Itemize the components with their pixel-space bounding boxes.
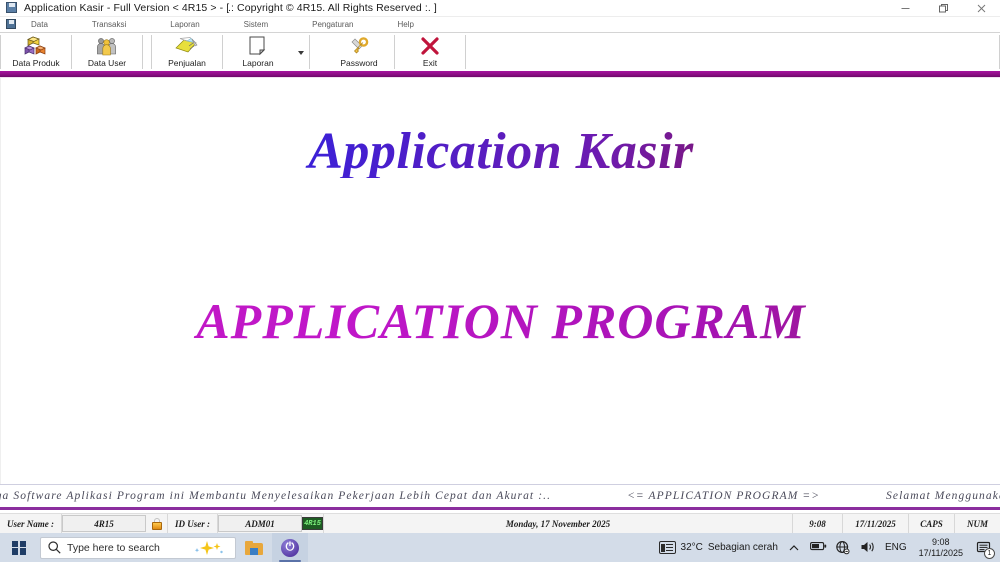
clock-date: 17/11/2025 [919,548,963,559]
toolbar-button-data-user[interactable]: Data User [72,33,142,72]
window-controls [886,0,1000,17]
windows-taskbar: Type here to search ⏻ [0,533,1000,562]
status-level-value: 4R15 [302,517,323,530]
weather-widget[interactable]: 32°C Sebagian cerah [654,533,783,562]
status-time: 9:08 [792,514,842,534]
chevron-down-icon [298,51,304,55]
weather-news-icon [659,541,676,554]
open-envelope-icon [172,35,202,57]
weather-condition: Sebagian cerah [708,542,778,553]
toolbar-button-data-produk[interactable]: Data Produk [1,33,71,72]
toolbar-label: Data User [88,58,126,68]
tray-language[interactable]: ENG [880,533,912,562]
menu-item-sistem[interactable]: Sistem [238,20,274,29]
red-x-icon [415,35,445,57]
colored-cubes-icon [21,35,51,57]
status-id-label: ID User : [168,514,218,534]
toolbar: Data Produk Data User [0,32,1000,71]
marquee-text: noga Software Aplikasi Program ini Memba… [0,490,1000,502]
status-user-value: 4R15 [62,515,146,532]
toolbar-button-laporan[interactable]: Laporan [223,33,293,72]
marquee-text-center: <= APPLICATION PROGRAM => [627,490,820,502]
toolbar-button-exit[interactable]: Exit [395,33,465,72]
green-led-icon: 4R15 [302,514,324,534]
window-copyright: .: Copyright © 4R15. All Rights Reserved… [228,2,437,14]
notification-center-button[interactable]: 1 [970,533,996,562]
padlock-icon [146,514,168,534]
toolbar-separator [309,35,310,69]
toolbar-label: Data Produk [12,58,59,68]
menu-item-laporan[interactable]: Laporan [164,20,205,29]
status-user-label: User Name : [0,514,62,534]
status-bar: User Name : 4R15 ID User : ADM01 4R15 Mo… [0,513,1000,533]
toolbar-separator [142,35,143,69]
taskbar-file-explorer[interactable] [236,533,272,562]
toolbar-filler [466,33,999,71]
chevron-up-icon [788,542,800,554]
toolbar-label: Penjualan [168,58,206,68]
purple-circle-icon: ⏻ [281,539,299,557]
toolbar-label: Exit [423,58,437,68]
search-input[interactable]: Type here to search [40,537,236,559]
toolbar-label: Laporan [242,58,273,68]
page-title: Application Kasir [1,126,1000,178]
tray-expand-button[interactable] [783,533,805,562]
windows-logo-icon[interactable] [0,533,38,562]
folder-icon [245,540,263,555]
page-subtitle: APPLICATION PROGRAM [1,296,1000,346]
title-bar: Application Kasir - Full Version < 4R15 … [0,0,1000,17]
menu-item-help[interactable]: Help [391,20,419,29]
key-icon [344,35,374,57]
tray-network[interactable] [830,533,855,562]
speaker-icon [860,540,875,555]
tray-volume[interactable] [855,533,880,562]
marquee-banner: noga Software Aplikasi Program ini Memba… [0,484,1000,510]
marquee-text-right: Selamat Menggunakan A [886,490,1000,502]
floppy-disk-icon [4,1,20,15]
laporan-dropdown-button[interactable] [293,33,309,72]
toolbar-label: Password [340,58,377,68]
language-indicator: ENG [885,542,907,553]
tray-battery[interactable] [805,533,830,562]
minimize-icon[interactable] [886,0,924,17]
toolbar-button-penjualan[interactable]: Penjualan [152,33,222,72]
battery-icon [810,540,825,555]
taskbar-clock[interactable]: 9:08 17/11/2025 [912,533,970,562]
search-icon [47,540,62,555]
mdi-client-area: Application Kasir Application Kasir APPL… [0,78,1000,484]
taskbar-application-kasir[interactable]: ⏻ [272,533,308,562]
status-date-long: Monday, 17 November 2025 [324,519,792,529]
system-tray: 32°C Sebagian cerah [654,533,1000,562]
menu-bar: Data Transaksi Laporan Sistem Pengaturan… [0,17,1000,32]
window-title: Application Kasir - Full Version < 4R15 … [24,2,229,14]
status-num-indicator: NUM [954,514,1000,534]
people-group-icon [92,35,122,57]
toolbar-button-password[interactable]: Password [324,33,394,72]
menu-item-data[interactable]: Data [25,20,54,29]
notification-badge: 1 [984,548,995,559]
close-icon[interactable] [962,0,1000,17]
menu-item-pengaturan[interactable]: Pengaturan [306,20,359,29]
search-placeholder: Type here to search [67,542,160,554]
application-window: Application Kasir - Full Version < 4R15 … [0,0,1000,562]
marquee-text-left: noga Software Aplikasi Program ini Memba… [0,490,551,502]
clock-time: 9:08 [932,537,950,548]
weather-temperature: 32°C [681,542,703,553]
status-id-value: ADM01 [218,515,302,532]
network-globe-icon [835,540,850,555]
menu-item-transaksi[interactable]: Transaksi [86,20,132,29]
mdi-app-icon [3,18,19,31]
restore-icon[interactable] [924,0,962,17]
document-page-icon [243,35,273,57]
status-caps-indicator: CAPS [908,514,954,534]
sparkle-icon [185,540,229,558]
status-date-short: 17/11/2025 [842,514,908,534]
